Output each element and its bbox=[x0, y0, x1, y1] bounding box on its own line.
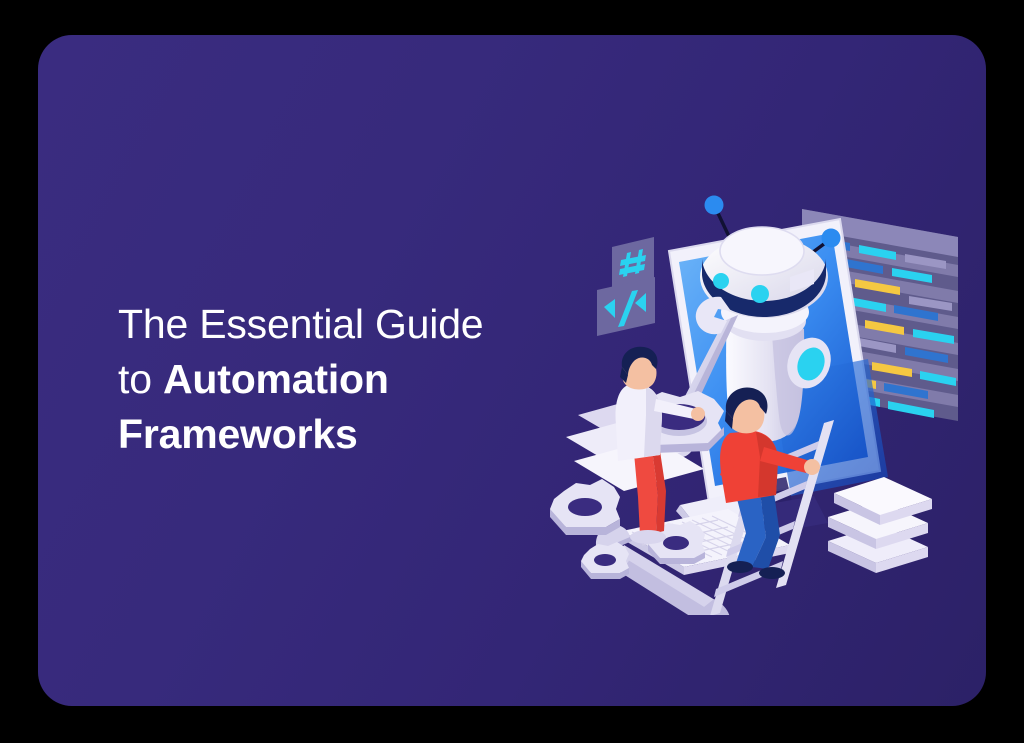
isometric-automation-illustration bbox=[528, 185, 986, 615]
robot-eye-left bbox=[713, 273, 729, 289]
screenshot-canvas: The Essential Guide to Automation Framew… bbox=[0, 0, 1024, 743]
headline-line-3: Frameworks bbox=[118, 407, 558, 462]
promo-card: The Essential Guide to Automation Framew… bbox=[38, 35, 986, 706]
antenna-ball-left bbox=[705, 196, 724, 215]
code-tile-tags bbox=[597, 277, 655, 336]
headline-line-2-prefix: to bbox=[118, 356, 163, 402]
antenna-ball-right bbox=[822, 229, 841, 248]
headline-line-2: to Automation bbox=[118, 352, 558, 407]
page-title: The Essential Guide to Automation Framew… bbox=[118, 297, 558, 462]
gear-small bbox=[581, 542, 629, 579]
gear-large bbox=[550, 479, 620, 535]
paper-stack bbox=[828, 477, 932, 573]
robot-eye-right bbox=[751, 285, 769, 303]
headline-line-2-bold: Automation bbox=[163, 356, 389, 402]
headline-line-1: The Essential Guide bbox=[118, 297, 558, 352]
